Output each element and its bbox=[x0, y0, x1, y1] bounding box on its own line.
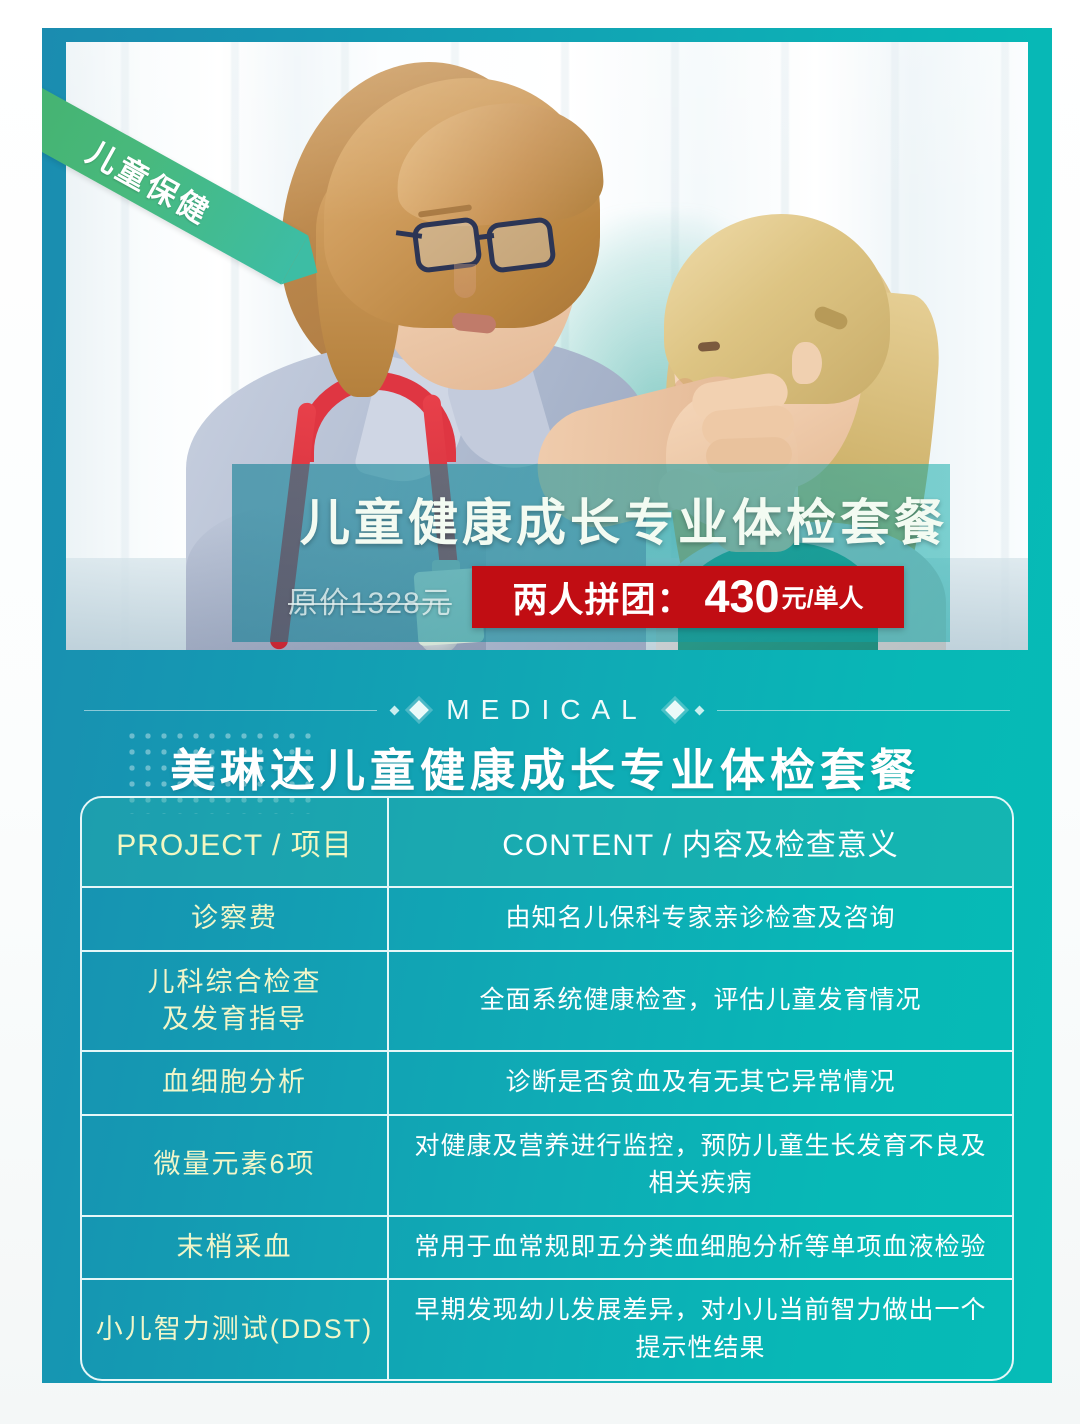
table-row: 微量元素6项 对健康及营养进行监控，预防儿童生长发育不良及相关疾病 bbox=[82, 1116, 1012, 1217]
child-ear bbox=[792, 342, 822, 384]
diamond-left-icon bbox=[409, 700, 429, 720]
diamond-small-right-icon bbox=[694, 705, 704, 715]
divider-label: MEDICAL bbox=[440, 694, 653, 726]
cell-content: 对健康及营养进行监控，预防儿童生长发育不良及相关疾病 bbox=[389, 1116, 1012, 1215]
cell-content: 全面系统健康检查，评估儿童发育情况 bbox=[389, 952, 1012, 1051]
cell-project: 血细胞分析 bbox=[82, 1052, 389, 1114]
price-value: 430 bbox=[704, 571, 779, 623]
content-desc: 由知名儿保科专家亲诊检查及咨询 bbox=[505, 900, 895, 938]
cell-project: 末梢采血 bbox=[82, 1217, 389, 1279]
header-content-label: CONTENT / 内容及检查意义 bbox=[502, 820, 898, 864]
price-unit: 元/单人 bbox=[782, 579, 864, 615]
cell-content: 由知名儿保科专家亲诊检查及咨询 bbox=[389, 888, 1012, 950]
price-label: 两人拼团： bbox=[512, 572, 692, 623]
diamond-small-left-icon bbox=[390, 705, 400, 715]
divider-line-left bbox=[84, 710, 377, 711]
section-heading: 美琳达儿童健康成长专业体检套餐 bbox=[170, 734, 1050, 799]
cell-project: 小儿智力测试(DDST) bbox=[82, 1280, 389, 1379]
doctor-nose bbox=[454, 264, 476, 298]
project-name: 儿科综合检查及发育指导 bbox=[148, 964, 322, 1039]
teal-panel: 儿童保健 儿童健康成长专业体检套餐 原价1328元 两人拼团： 430 元/单人… bbox=[42, 28, 1052, 1383]
content-desc: 全面系统健康检查，评估儿童发育情况 bbox=[479, 982, 921, 1020]
group-price-badge: 两人拼团： 430 元/单人 bbox=[472, 566, 904, 628]
cell-project: 诊察费 bbox=[82, 888, 389, 950]
diamond-right-icon bbox=[665, 700, 685, 720]
content-desc: 常用于血常规即五分类血细胞分析等单项血液检验 bbox=[414, 1229, 986, 1267]
cell-project: 微量元素6项 bbox=[82, 1116, 389, 1215]
child-eye bbox=[698, 341, 721, 352]
package-table: PROJECT / 项目 CONTENT / 内容及检查意义 诊察费 由知名儿保… bbox=[80, 796, 1014, 1381]
project-name: 微量元素6项 bbox=[153, 1146, 315, 1183]
cell-project: 儿科综合检查及发育指导 bbox=[82, 952, 389, 1051]
header-cell-content: CONTENT / 内容及检查意义 bbox=[389, 798, 1012, 886]
table-row: 儿科综合检查及发育指导 全面系统健康检查，评估儿童发育情况 bbox=[82, 952, 1012, 1053]
content-desc: 对健康及营养进行监控，预防儿童生长发育不良及相关疾病 bbox=[403, 1128, 998, 1203]
cell-content: 诊断是否贫血及有无其它异常情况 bbox=[389, 1052, 1012, 1114]
table-row: 血细胞分析 诊断是否贫血及有无其它异常情况 bbox=[82, 1052, 1012, 1116]
project-name: 末梢采血 bbox=[177, 1229, 293, 1266]
table-row: 小儿智力测试(DDST) 早期发现幼儿发展差异，对小儿当前智力做出一个提示性结果 bbox=[82, 1280, 1012, 1379]
project-name: 血细胞分析 bbox=[162, 1064, 307, 1101]
content-desc: 早期发现幼儿发展差异，对小儿当前智力做出一个提示性结果 bbox=[403, 1292, 998, 1367]
table-header-row: PROJECT / 项目 CONTENT / 内容及检查意义 bbox=[82, 798, 1012, 888]
header-cell-project: PROJECT / 项目 bbox=[82, 798, 389, 886]
project-name: 诊察费 bbox=[191, 900, 278, 937]
divider-line-right bbox=[717, 710, 1010, 711]
hero-title: 儿童健康成长专业体检套餐 bbox=[300, 483, 960, 555]
table-row: 诊察费 由知名儿保科专家亲诊检查及咨询 bbox=[82, 888, 1012, 952]
poster-root: 儿童保健 儿童健康成长专业体检套餐 原价1328元 两人拼团： 430 元/单人… bbox=[0, 0, 1080, 1424]
content-desc: 诊断是否贫血及有无其它异常情况 bbox=[505, 1064, 895, 1102]
eyeglasses-right-lens bbox=[485, 216, 557, 274]
original-price: 原价1328元 bbox=[288, 578, 452, 622]
table-row: 末梢采血 常用于血常规即五分类血细胞分析等单项血液检验 bbox=[82, 1217, 1012, 1281]
header-project-label: PROJECT / 项目 bbox=[116, 820, 352, 864]
project-name: 小儿智力测试(DDST) bbox=[96, 1311, 373, 1348]
cell-content: 常用于血常规即五分类血细胞分析等单项血液检验 bbox=[389, 1217, 1012, 1279]
cell-content: 早期发现幼儿发展差异，对小儿当前智力做出一个提示性结果 bbox=[389, 1280, 1012, 1379]
